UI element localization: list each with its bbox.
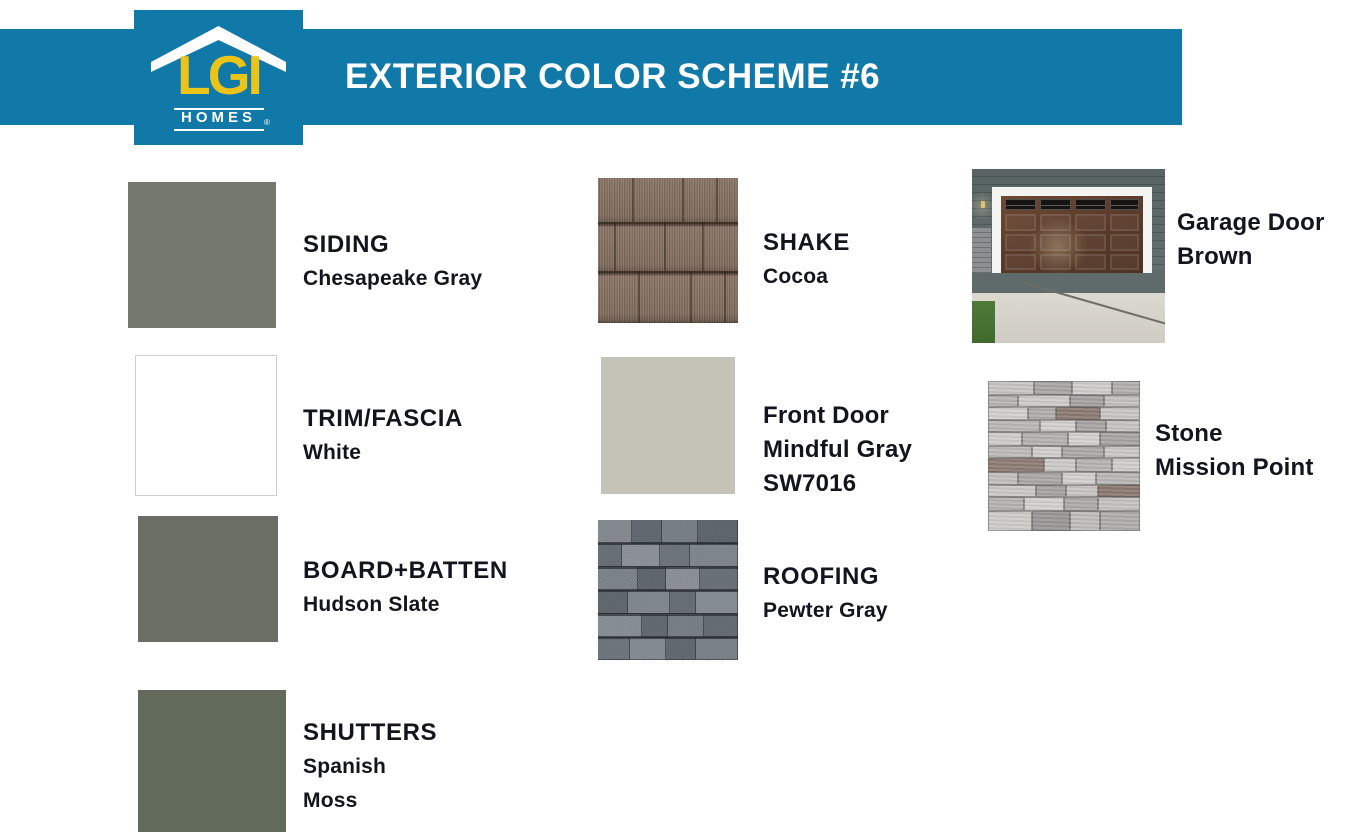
swatch-row-shutters: SHUTTERS Spanish Moss [138, 690, 558, 832]
swatch-row-roofing: ROOFING Pewter Gray [598, 520, 1018, 660]
stone-texture-icon [988, 381, 1140, 531]
front-door-title: Front Door [763, 399, 912, 433]
color-swatch-icon [138, 516, 278, 642]
page-header: EXTERIOR COLOR SCHEME #6 LGI HOMES ® [0, 0, 1356, 155]
roofing-labels: ROOFING Pewter Gray [763, 560, 888, 628]
shingle-texture-icon [598, 520, 738, 660]
board-batten-subtitle: Hudson Slate [303, 588, 508, 622]
shake-labels: SHAKE Cocoa [763, 226, 850, 294]
trim-fascia-subtitle: White [303, 436, 463, 470]
swatch-row-shake: SHAKE Cocoa [598, 178, 1018, 323]
page-title: EXTERIOR COLOR SCHEME #6 [345, 55, 1165, 99]
color-swatch-icon [138, 690, 286, 832]
shake-title: SHAKE [763, 226, 850, 260]
logo-rule-bottom [174, 129, 264, 131]
shake-texture-icon [598, 178, 738, 323]
logo-tagline: HOMES [134, 110, 303, 126]
logo-registered-mark: ® [264, 118, 270, 127]
front-door-subtitle-line-2: SW7016 [763, 467, 912, 501]
swatch-row-front-door: Front Door Mindful Gray SW7016 [601, 357, 1021, 494]
board-batten-labels: BOARD+BATTEN Hudson Slate [303, 554, 508, 622]
swatch-row-siding: SIDING Chesapeake Gray [128, 182, 548, 328]
garage-door-title: Garage Door [1177, 206, 1325, 240]
color-swatch-icon [135, 355, 277, 496]
shutters-subtitle-line-1: Spanish [303, 750, 437, 784]
siding-labels: SIDING Chesapeake Gray [303, 228, 482, 296]
logo-wordmark: LGI [134, 48, 303, 103]
siding-subtitle: Chesapeake Gray [303, 262, 482, 296]
front-door-subtitle-line-1: Mindful Gray [763, 433, 912, 467]
trim-fascia-title: TRIM/FASCIA [303, 402, 463, 436]
lgi-homes-logo: LGI HOMES ® [134, 10, 303, 145]
siding-title: SIDING [303, 228, 482, 262]
shake-subtitle: Cocoa [763, 260, 850, 294]
logo-inner: LGI HOMES ® [134, 10, 303, 145]
stone-subtitle: Mission Point [1155, 451, 1314, 485]
garage-door-photo-icon [972, 169, 1165, 343]
swatch-row-board-batten: BOARD+BATTEN Hudson Slate [138, 516, 558, 642]
garage-door-subtitle: Brown [1177, 240, 1325, 274]
trim-fascia-labels: TRIM/FASCIA White [303, 402, 463, 470]
garage-door-labels: Garage Door Brown [1177, 206, 1325, 274]
board-batten-title: BOARD+BATTEN [303, 554, 508, 588]
front-door-labels: Front Door Mindful Gray SW7016 [763, 399, 912, 501]
color-swatch-icon [601, 357, 735, 494]
swatch-row-garage-door: Garage Door Brown [972, 169, 1356, 343]
shutters-subtitle-line-2: Moss [303, 784, 437, 818]
roofing-subtitle: Pewter Gray [763, 594, 888, 628]
swatch-row-trim-fascia: TRIM/FASCIA White [135, 355, 555, 496]
roofing-title: ROOFING [763, 560, 888, 594]
shutters-labels: SHUTTERS Spanish Moss [303, 716, 437, 818]
swatch-row-stone: Stone Mission Point [988, 381, 1356, 531]
stone-labels: Stone Mission Point [1155, 417, 1314, 485]
color-swatch-icon [128, 182, 276, 328]
stone-title: Stone [1155, 417, 1314, 451]
shutters-title: SHUTTERS [303, 716, 437, 750]
